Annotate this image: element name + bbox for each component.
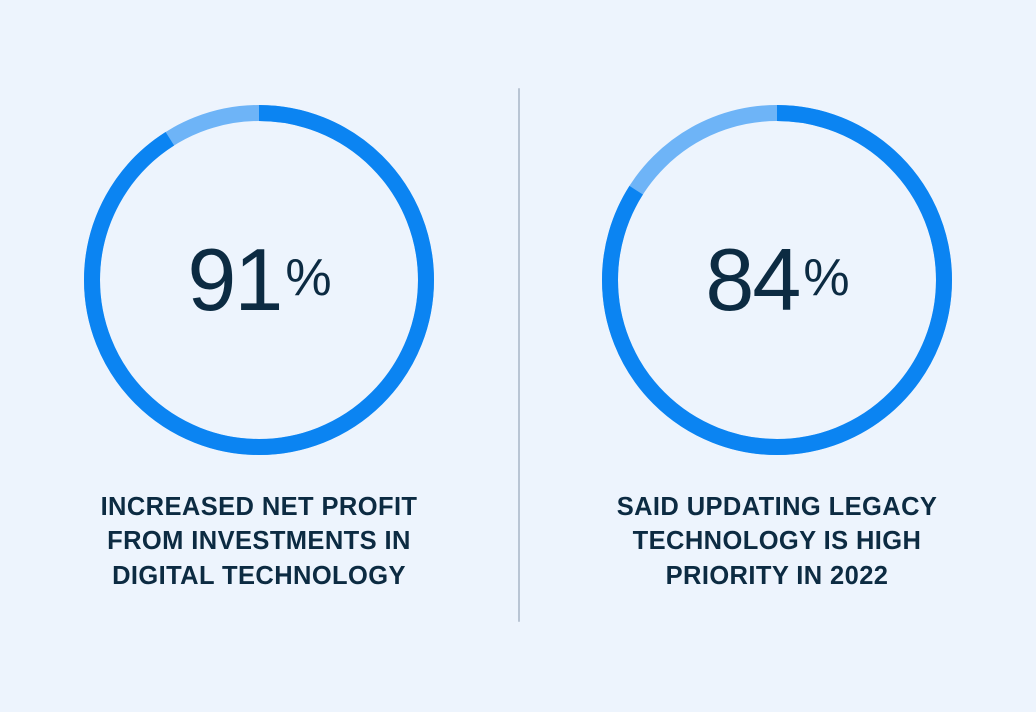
statistics-infographic: 91 % INCREASED NET PROFIT FROM INVESTMEN… <box>0 0 1036 712</box>
caption-1-line-3: DIGITAL TECHNOLOGY <box>49 559 469 593</box>
gauge-value-1: 91 % <box>84 105 434 455</box>
caption-2: SAID UPDATING LEGACY TECHNOLOGY IS HIGH … <box>567 490 987 593</box>
caption-2-line-1: SAID UPDATING LEGACY <box>567 490 987 524</box>
stat-panel-1: 91 % INCREASED NET PROFIT FROM INVESTMEN… <box>0 0 518 712</box>
gauge-percent-symbol-2: % <box>803 252 848 304</box>
donut-gauge-1: 91 % <box>84 105 434 455</box>
caption-1: INCREASED NET PROFIT FROM INVESTMENTS IN… <box>49 490 469 593</box>
stat-panel-2: 84 % SAID UPDATING LEGACY TECHNOLOGY IS … <box>518 0 1036 712</box>
caption-2-line-2: TECHNOLOGY IS HIGH <box>567 524 987 558</box>
gauge-number-2: 84 <box>705 236 799 324</box>
gauge-percent-symbol-1: % <box>285 252 330 304</box>
caption-1-line-1: INCREASED NET PROFIT <box>49 490 469 524</box>
donut-gauge-2: 84 % <box>602 105 952 455</box>
gauge-number-1: 91 <box>187 236 281 324</box>
gauge-value-2: 84 % <box>602 105 952 455</box>
caption-2-line-3: PRIORITY IN 2022 <box>567 559 987 593</box>
caption-1-line-2: FROM INVESTMENTS IN <box>49 524 469 558</box>
